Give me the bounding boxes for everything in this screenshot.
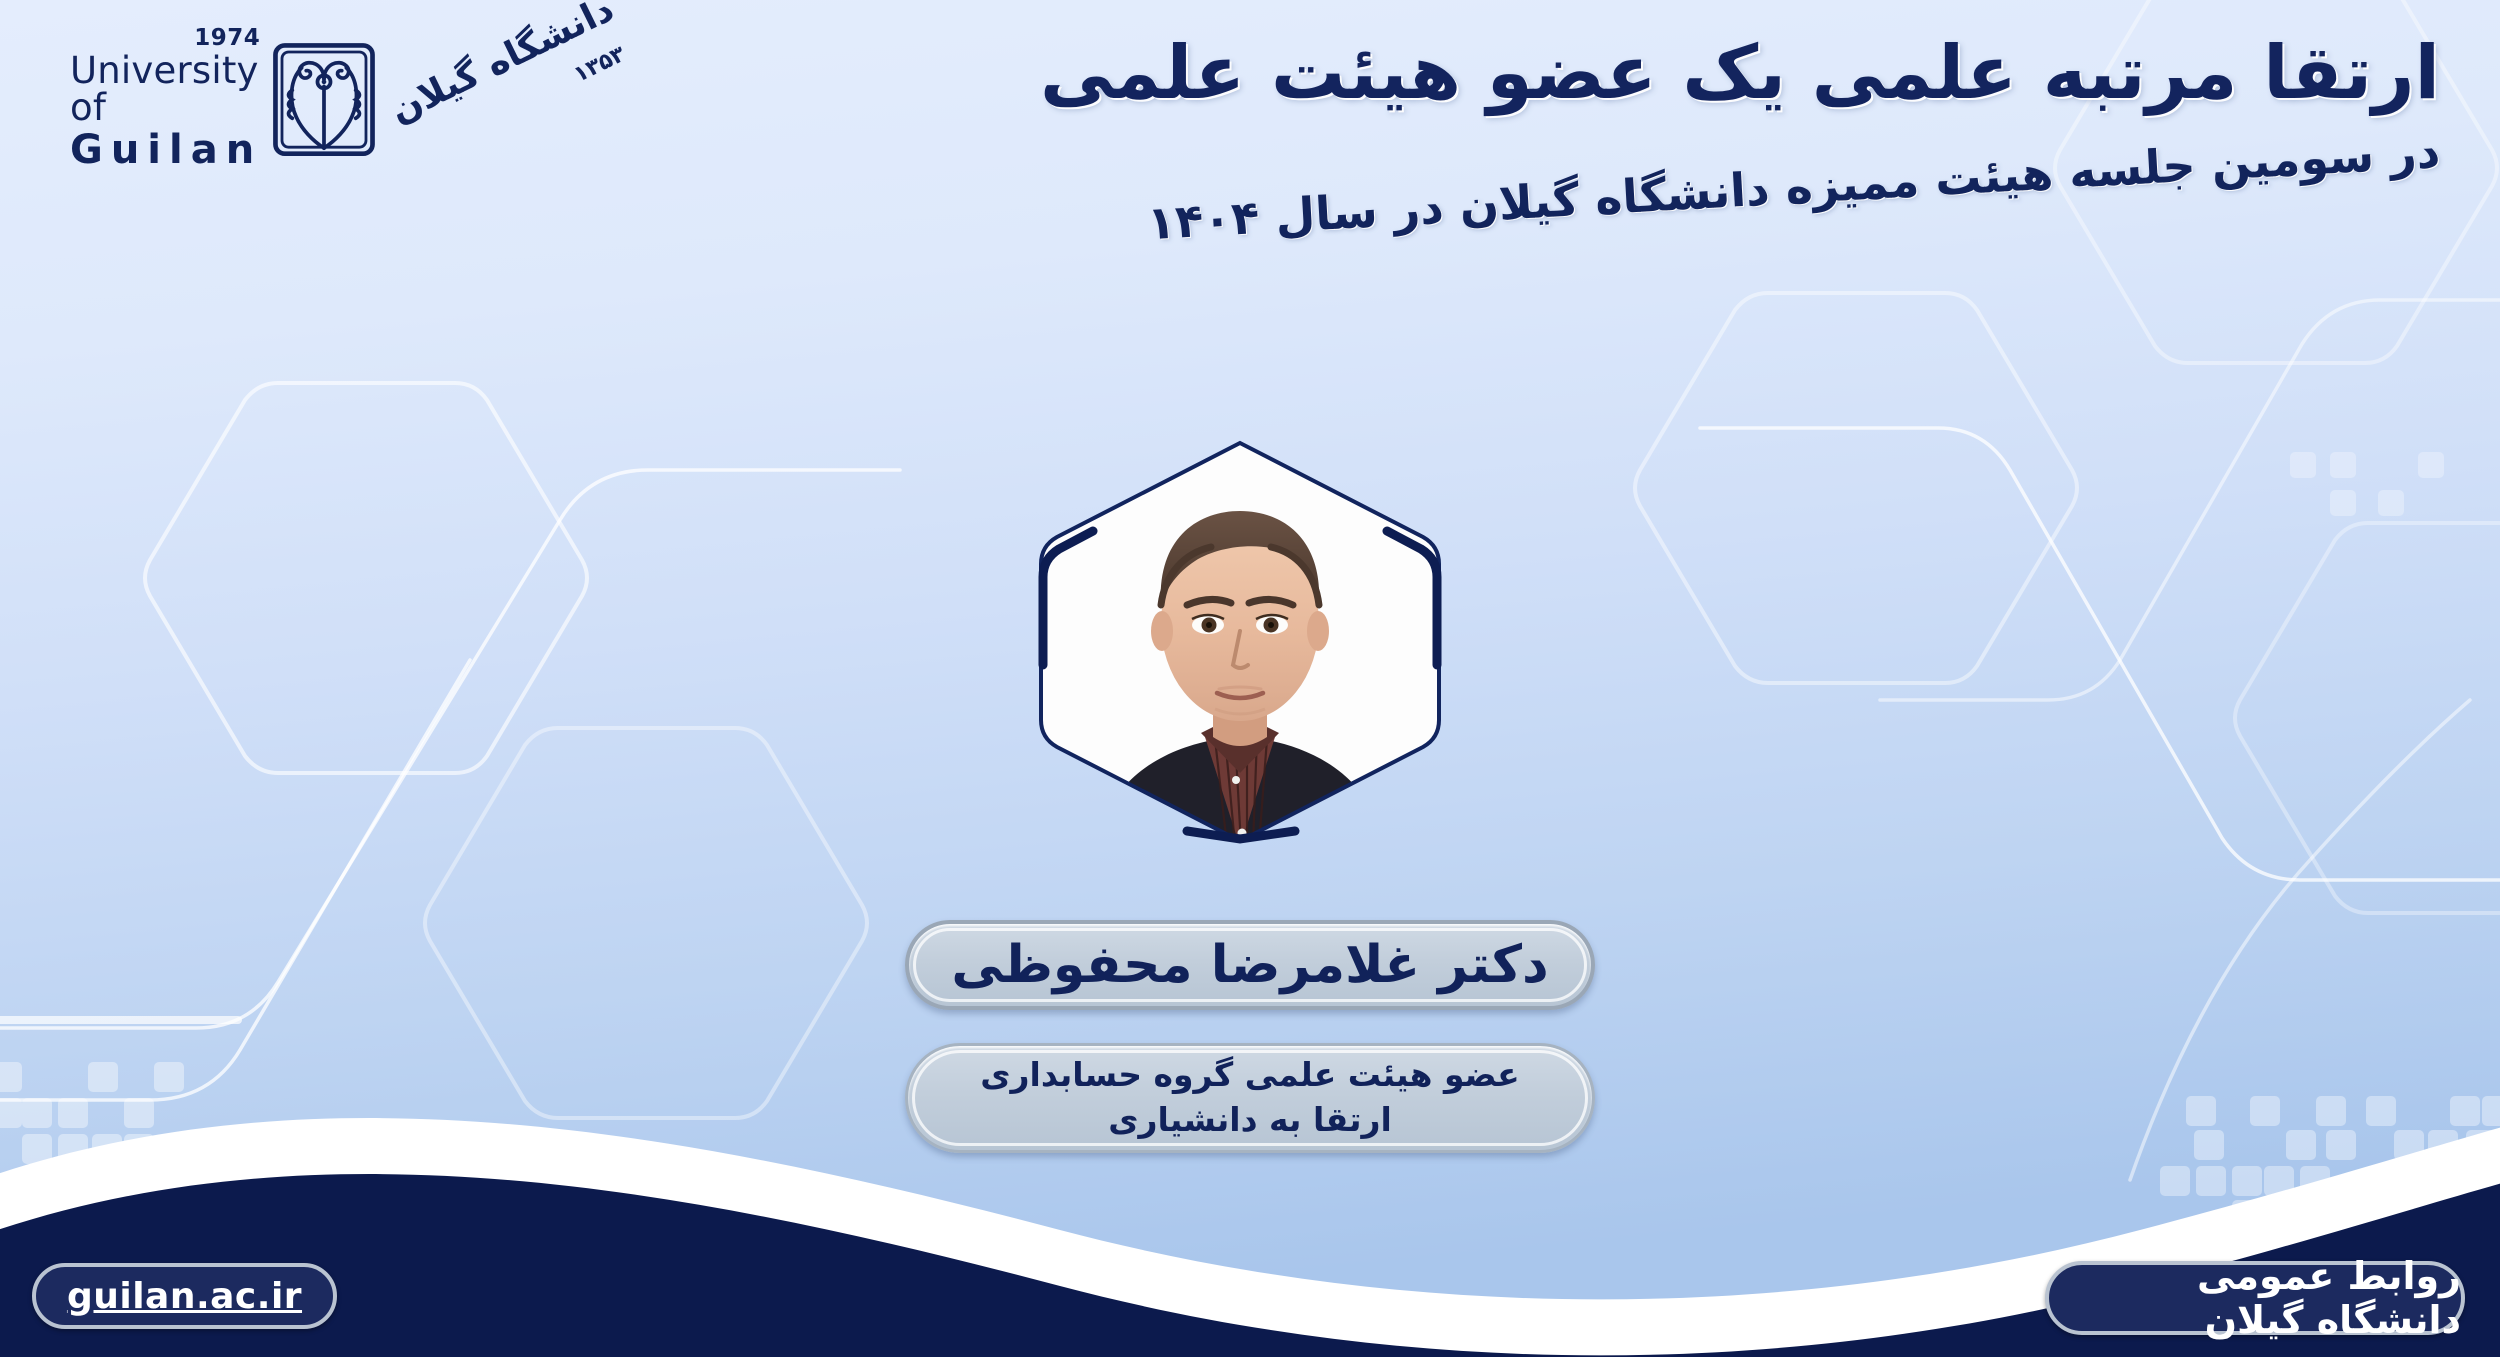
person-role-line-1: عضو هیئت علمی گروه حسابداری <box>980 1054 1519 1097</box>
page-title: ارتقا مرتبه علمی یک عضو هیئت علمی <box>1040 30 2440 117</box>
university-logo: 1974 University of Guilan ۱۳۵۳ دانشگاه گ… <box>70 28 540 168</box>
logo-year-en: 1974 <box>194 27 260 50</box>
person-name-plate: دکتر غلامرضا محفوظی <box>905 920 1595 1010</box>
headline-block: ارتقا مرتبه علمی یک عضو هیئت علمی در سوم… <box>1040 30 2440 181</box>
public-relations-label: روابط عمومی دانشگاه گیلان <box>2049 1254 2461 1342</box>
logo-persian-text: ۱۳۵۳ دانشگاه گیلان <box>384 60 627 136</box>
public-relations-pill: روابط عمومی دانشگاه گیلان <box>2045 1261 2465 1335</box>
person-role-plate: عضو هیئت علمی گروه حسابداری ارتقا به دان… <box>905 1043 1595 1153</box>
portrait-frame <box>1019 437 1461 847</box>
website-url-label: guilan.ac.ir <box>67 1276 302 1317</box>
logo-english-text: 1974 University of Guilan <box>70 27 262 170</box>
website-link-pill[interactable]: guilan.ac.ir <box>32 1263 337 1329</box>
person-full-name: دکتر غلامرضا محفوظی <box>951 935 1548 995</box>
guilan-shield-emblem-icon <box>268 38 380 158</box>
person-role-line-2: ارتقا به دانشیاری <box>1108 1099 1392 1142</box>
logo-guilan-word: Guilan <box>70 130 262 170</box>
poster-canvas: 1974 University of Guilan ۱۳۵۳ دانشگاه گ… <box>0 0 2500 1357</box>
logo-university-word: University of <box>70 52 262 126</box>
